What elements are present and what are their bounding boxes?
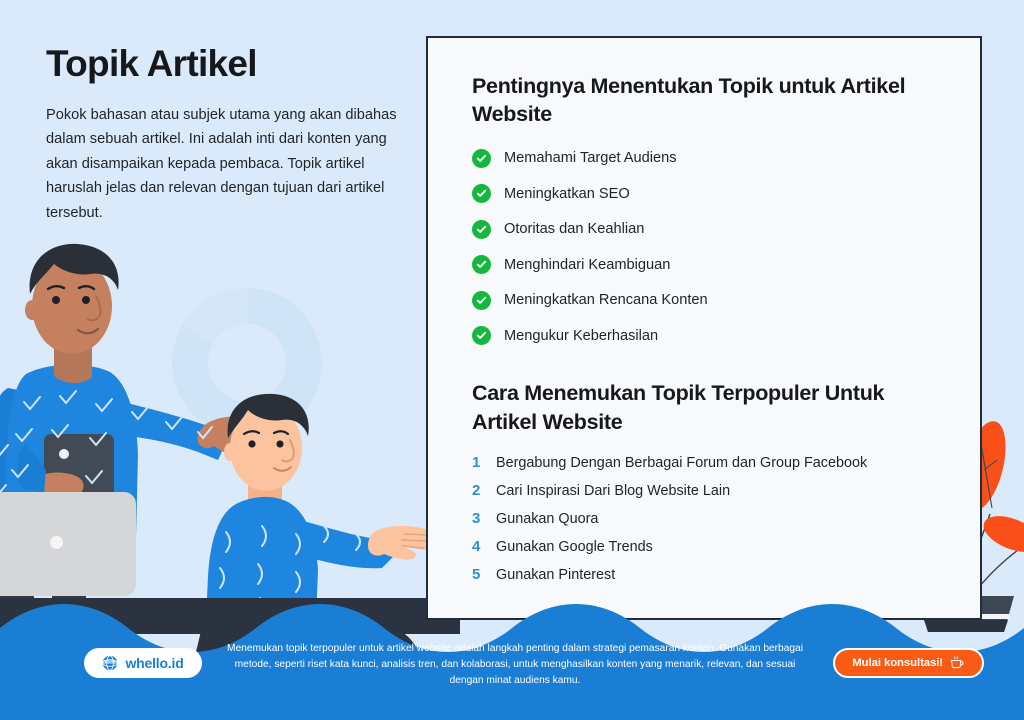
check-circle-icon bbox=[472, 291, 491, 310]
list-item[interactable]: 2 Cari Inspirasi Dari Blog Website Lain bbox=[472, 482, 940, 499]
logo-text: whello.id bbox=[125, 655, 183, 671]
check-circle-icon bbox=[472, 184, 491, 203]
list-item-label: Meningkatkan SEO bbox=[504, 186, 630, 202]
list-item[interactable]: 5 Gunakan Pinterest bbox=[472, 566, 940, 583]
coffee-cup-icon bbox=[950, 656, 965, 670]
list-item[interactable]: Menghindari Keambiguan bbox=[472, 255, 940, 274]
svg-text:www: www bbox=[104, 659, 116, 664]
list-item[interactable]: Mengukur Keberhasilan bbox=[472, 326, 940, 345]
globe-icon: www bbox=[102, 655, 118, 671]
list-item[interactable]: 3 Gunakan Quora bbox=[472, 510, 940, 527]
list-item[interactable]: Meningkatkan SEO bbox=[472, 184, 940, 203]
list-item[interactable]: Otoritas dan Keahlian bbox=[472, 220, 940, 239]
list-item-label: Gunakan Google Trends bbox=[496, 539, 653, 555]
check-circle-icon bbox=[472, 255, 491, 274]
benefits-checklist: Memahami Target Audiens Meningkatkan SEO… bbox=[472, 149, 940, 346]
list-item[interactable]: 1 Bergabung Dengan Berbagai Forum dan Gr… bbox=[472, 454, 940, 471]
list-item-number: 2 bbox=[472, 482, 484, 499]
methods-numbered-list: 1 Bergabung Dengan Berbagai Forum dan Gr… bbox=[472, 454, 940, 583]
list-item[interactable]: 4 Gunakan Google Trends bbox=[472, 538, 940, 555]
infographic-canvas: Topik Artikel Pokok bahasan atau subjek … bbox=[0, 0, 1024, 720]
list-item-number: 4 bbox=[472, 538, 484, 555]
check-circle-icon bbox=[472, 149, 491, 168]
footer-paragraph: Menemukan topik terpopuler untuk artikel… bbox=[226, 641, 804, 688]
list-item-label: Gunakan Quora bbox=[496, 511, 598, 527]
start-consultation-button[interactable]: Mulai konsultasi! bbox=[833, 648, 984, 678]
cta-label: Mulai konsultasi! bbox=[852, 657, 943, 669]
list-item-label: Cari Inspirasi Dari Blog Website Lain bbox=[496, 483, 730, 499]
list-item-number: 1 bbox=[472, 454, 484, 471]
laptop-camera-dot bbox=[50, 536, 63, 549]
list-item-label: Memahami Target Audiens bbox=[504, 150, 677, 166]
page-title: Topik Artikel bbox=[46, 44, 406, 85]
list-item[interactable]: Meningkatkan Rencana Konten bbox=[472, 291, 940, 310]
list-item-number: 3 bbox=[472, 510, 484, 527]
page-description: Pokok bahasan atau subjek utama yang aka… bbox=[46, 103, 398, 226]
list-item-label: Mengukur Keberhasilan bbox=[504, 328, 658, 344]
section-2-heading: Cara Menemukan Topik Terpopuler Untuk Ar… bbox=[472, 379, 940, 436]
list-item-label: Gunakan Pinterest bbox=[496, 567, 615, 583]
list-item-label: Menghindari Keambiguan bbox=[504, 257, 670, 273]
left-text-column: Topik Artikel Pokok bahasan atau subjek … bbox=[46, 44, 406, 225]
list-item-label: Bergabung Dengan Berbagai Forum dan Grou… bbox=[496, 455, 867, 471]
laptop-illustration bbox=[0, 492, 136, 596]
footer-bar: www whello.id Menemukan topik terpopuler… bbox=[0, 634, 1024, 720]
whello-logo[interactable]: www whello.id bbox=[84, 648, 202, 678]
list-item-label: Otoritas dan Keahlian bbox=[504, 221, 644, 237]
section-1-heading: Pentingnya Menentukan Topik untuk Artike… bbox=[472, 72, 940, 129]
check-circle-icon bbox=[472, 326, 491, 345]
list-item-number: 5 bbox=[472, 566, 484, 583]
check-circle-icon bbox=[472, 220, 491, 239]
content-panel: Pentingnya Menentukan Topik untuk Artike… bbox=[426, 36, 982, 620]
list-item-label: Meningkatkan Rencana Konten bbox=[504, 292, 708, 308]
list-item[interactable]: Memahami Target Audiens bbox=[472, 149, 940, 168]
